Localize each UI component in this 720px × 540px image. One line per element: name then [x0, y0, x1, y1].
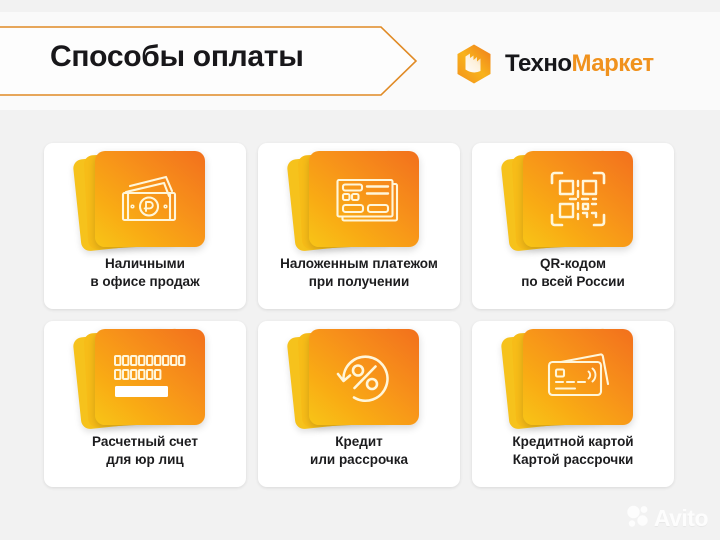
invoice-document-icon — [327, 171, 401, 227]
card-label: Кредитной картой Картой рассрочки — [478, 433, 668, 469]
payment-method-card[interactable]: QR-кодом по всей России — [472, 143, 674, 309]
card-label: Наличными в офисе продаж — [50, 255, 240, 291]
card-label: Кредит или рассрочка — [264, 433, 454, 469]
qr-code-icon — [549, 170, 607, 228]
header-top-strip — [0, 0, 720, 12]
tile-front-layer — [95, 151, 205, 247]
card-label: QR-кодом по всей России — [478, 255, 668, 291]
card-label-line1: Кредитной картой — [512, 434, 633, 449]
page-header: Способы оплаты — [0, 0, 720, 122]
brand-logo-text-primary: Техно — [505, 50, 572, 77]
banknotes-ruble-icon — [114, 171, 186, 227]
account-number-icon — [111, 351, 189, 403]
card-label-line2: при получении — [264, 273, 454, 291]
tile-front-layer — [309, 329, 419, 425]
card-illustration — [44, 151, 246, 251]
payment-method-card[interactable]: Наложенным платежом при получении — [258, 143, 460, 309]
tile-front-layer — [523, 151, 633, 247]
card-label-line2: в офисе продаж — [50, 273, 240, 291]
payment-method-card[interactable]: Расчетный счет для юр лиц — [44, 321, 246, 487]
tile-front-layer — [309, 151, 419, 247]
card-label-line1: Наличными — [105, 256, 185, 271]
payment-method-card[interactable]: Наличными в офисе продаж — [44, 143, 246, 309]
card-label-line2: по всей России — [478, 273, 668, 291]
card-label-line1: Расчетный счет — [92, 434, 198, 449]
card-label-line1: Наложенным платежом — [280, 256, 438, 271]
card-label-line2: Картой рассрочки — [478, 451, 668, 469]
page-title: Способы оплаты — [50, 40, 304, 74]
card-label-line2: или рассрочка — [264, 451, 454, 469]
card-label-line1: Кредит — [335, 434, 382, 449]
card-illustration — [472, 329, 674, 429]
card-label: Наложенным платежом при получении — [264, 255, 454, 291]
brand-logo[interactable]: ТехноМаркет — [452, 42, 654, 86]
avito-watermark-text: Avito — [654, 507, 708, 530]
avito-dots-icon — [626, 505, 650, 532]
card-illustration — [258, 329, 460, 429]
card-label: Расчетный счет для юр лиц — [50, 433, 240, 469]
brand-logo-text-accent: Маркет — [572, 50, 654, 77]
payment-methods-grid: Наличными в офисе продаж — [44, 143, 678, 487]
card-illustration — [472, 151, 674, 251]
card-label-line2: для юр лиц — [50, 451, 240, 469]
hexagon-logo-icon — [452, 42, 496, 86]
credit-cards-icon — [542, 349, 614, 405]
card-illustration — [44, 329, 246, 429]
payment-method-card[interactable]: Кредит или рассрочка — [258, 321, 460, 487]
avito-watermark: Avito — [626, 505, 708, 532]
brand-logo-text: ТехноМаркет — [505, 52, 654, 76]
payment-method-card[interactable]: Кредитной картой Картой рассрочки — [472, 321, 674, 487]
tile-front-layer — [523, 329, 633, 425]
card-label-line1: QR-кодом — [540, 256, 606, 271]
percent-cycle-icon — [334, 347, 394, 407]
header-bottom-strip — [0, 110, 720, 122]
tile-front-layer — [95, 329, 205, 425]
card-illustration — [258, 151, 460, 251]
